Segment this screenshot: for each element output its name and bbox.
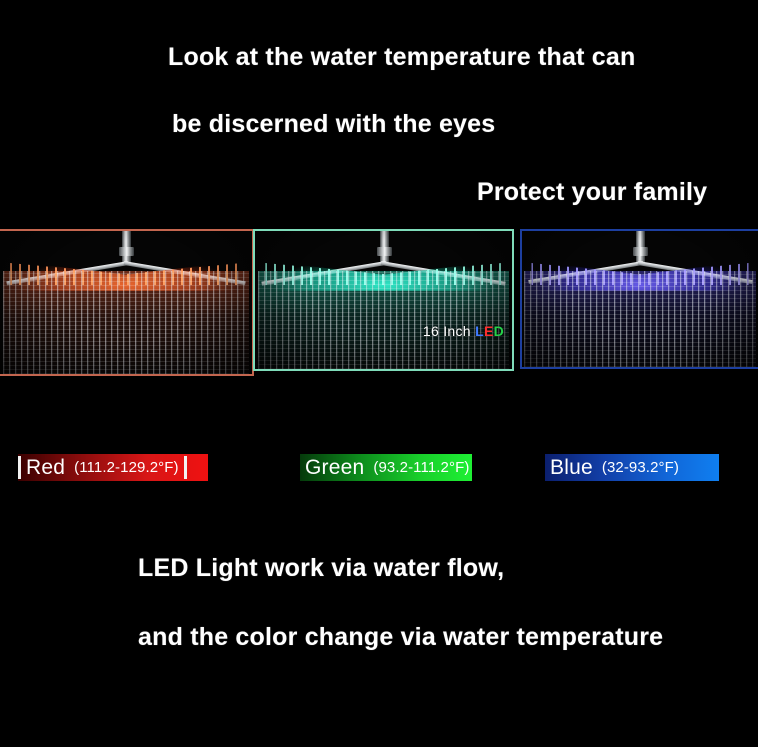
water-color-wash-green [258, 271, 510, 369]
legend-red-name: Red [26, 456, 65, 480]
legend-green-range: (93.2-111.2°F) [373, 459, 469, 476]
legend-red-range: (111.2-129.2°F) [74, 459, 179, 476]
water-color-wash-blue [524, 271, 755, 367]
shower-scene-blue [522, 231, 758, 367]
legend-green-name: Green [305, 456, 364, 480]
legend-tick-start [18, 456, 21, 479]
photo-shower-head-green: 16 Inch LED [253, 229, 514, 371]
shower-arm-icon [636, 231, 645, 265]
headline-line-2: be discerned with the eyes [172, 110, 495, 139]
product-photo-strip: 16 Inch LED [0, 229, 758, 379]
legend-blue-range: (32-93.2°F) [602, 459, 679, 476]
watermark-letter-d: D [494, 323, 504, 339]
headline-protect-your-family: Protect your family [477, 178, 707, 207]
size-watermark: 16 Inch LED [423, 323, 504, 339]
shower-scene-red [0, 231, 252, 374]
footer-line-2: and the color change via water temperatu… [138, 623, 663, 652]
watermark-letter-l: L [475, 323, 484, 339]
watermark-letter-e: E [484, 323, 494, 339]
legend-green: Green (93.2-111.2°F) [300, 454, 472, 481]
legend-blue-name: Blue [550, 456, 593, 480]
legend-red: Red (111.2-129.2°F) [18, 454, 208, 481]
legend-blue: Blue (32-93.2°F) [545, 454, 719, 481]
shower-arm-icon [122, 231, 131, 265]
shower-arm-icon [380, 231, 389, 265]
shower-scene-green: 16 Inch LED [255, 231, 512, 369]
photo-shower-head-blue [520, 229, 758, 369]
headline-line-1: Look at the water temperature that can [168, 43, 635, 72]
water-color-wash-red [3, 271, 250, 374]
legend-tick-end [184, 456, 187, 479]
footer-line-1: LED Light work via water flow, [138, 554, 504, 583]
photo-shower-head-red [0, 229, 254, 376]
watermark-size-text: 16 Inch [423, 323, 475, 339]
